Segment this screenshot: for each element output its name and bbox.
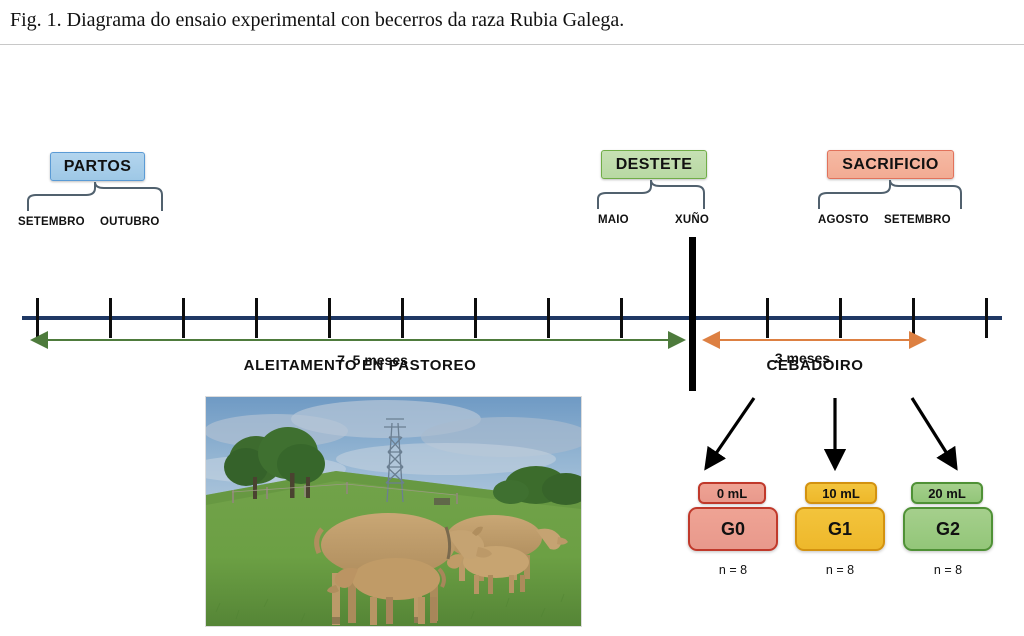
dose-label-g0: 0 mL xyxy=(717,486,747,501)
event-box-sacrificio: SACRIFICIO xyxy=(827,150,954,179)
dose-box-g1: 10 mL xyxy=(805,482,877,504)
phase-label-cebadoiro: CEBADOIRO xyxy=(700,357,930,374)
experiment-diagram: PARTOS DESTETE SACRIFICIO SETEMBRO OUTUB… xyxy=(0,46,1024,636)
month-label-setembro-partos: SETEMBRO xyxy=(18,216,85,228)
group-box-g0: G0 xyxy=(688,507,778,551)
group-n-g1: n = 8 xyxy=(795,563,885,577)
group-distribution-arrows xyxy=(690,376,990,486)
group-label-g2: G2 xyxy=(936,519,960,540)
month-label-xuno-destete: XUÑO xyxy=(675,214,709,226)
dose-label-g2: 20 mL xyxy=(928,486,966,501)
event-label-destete: DESTETE xyxy=(616,156,693,174)
event-label-partos: PARTOS xyxy=(64,158,132,176)
group-label-g0: G0 xyxy=(721,519,745,540)
group-box-g1: G1 xyxy=(795,507,885,551)
figure-caption-bar: Fig. 1. Diagrama do ensaio experimental … xyxy=(0,0,1024,45)
group-n-g2: n = 8 xyxy=(903,563,993,577)
weaning-marker-bar xyxy=(689,237,696,391)
group-n-g0: n = 8 xyxy=(688,563,778,577)
event-box-destete: DESTETE xyxy=(601,150,707,179)
month-label-outubro-partos: OUTUBRO xyxy=(100,216,160,228)
brace-destete xyxy=(580,177,730,213)
event-label-sacrificio: SACRIFICIO xyxy=(842,156,938,174)
month-label-maio-destete: MAIO xyxy=(598,214,629,226)
timeline-axis xyxy=(22,316,1002,320)
dose-box-g0: 0 mL xyxy=(698,482,766,504)
phase-label-aleitamento: ALEITAMENTO EN PASTOREO xyxy=(160,357,560,374)
dose-label-g1: 10 mL xyxy=(822,486,860,501)
pasture-photo-illustration xyxy=(206,397,581,626)
phase-arrow-cebadoiro xyxy=(697,328,937,352)
brace-sacrificio xyxy=(805,177,985,213)
group-box-g2: G2 xyxy=(903,507,993,551)
dose-box-g2: 20 mL xyxy=(911,482,983,504)
pasture-photo xyxy=(205,396,582,627)
timeline-tick xyxy=(985,298,988,338)
brace-partos xyxy=(20,179,200,215)
month-label-agosto-sacrificio: AGOSTO xyxy=(818,214,869,226)
figure-caption: Fig. 1. Diagrama do ensaio experimental … xyxy=(10,9,624,32)
group-label-g1: G1 xyxy=(828,519,852,540)
phase-arrow-aleitamento xyxy=(24,328,696,352)
month-label-setembro-sacrificio: SETEMBRO xyxy=(884,214,951,226)
event-box-partos: PARTOS xyxy=(50,152,145,181)
